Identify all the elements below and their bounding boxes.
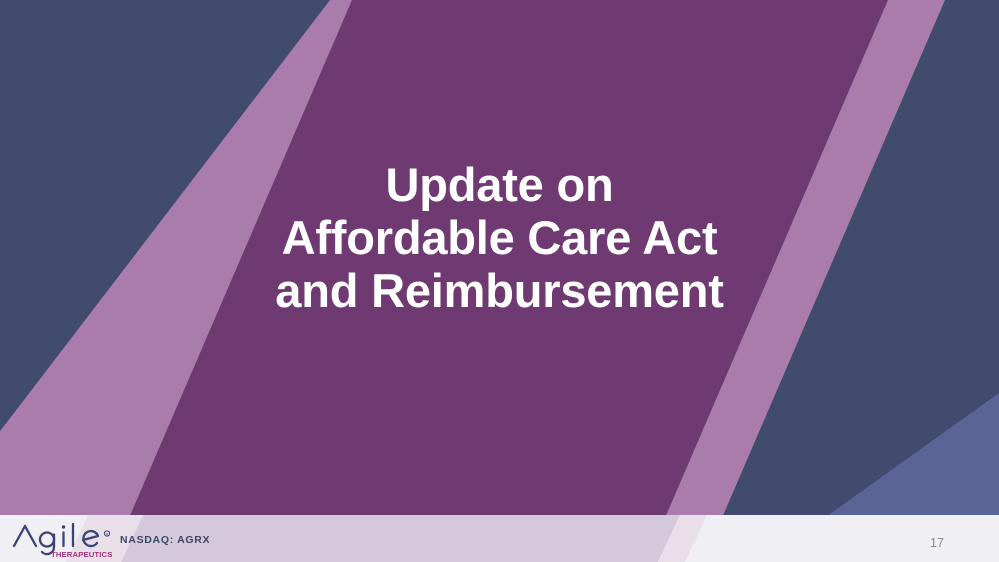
title-line-1: Update on	[0, 158, 999, 211]
logo-i-dot	[62, 525, 65, 528]
slide-title: Update on Affordable Care Act and Reimbu…	[0, 158, 999, 317]
agile-therapeutics-logo: R THERAPEUTICS	[12, 521, 116, 559]
page-number: 17	[930, 536, 980, 550]
logo-mark-icon: R THERAPEUTICS	[12, 521, 116, 559]
title-line-2: Affordable Care Act	[0, 211, 999, 264]
title-line-3: and Reimbursement	[0, 264, 999, 317]
nasdaq-ticker-label: NASDAQ: AGRX	[120, 534, 210, 546]
logo-tagline: THERAPEUTICS	[51, 550, 112, 559]
slide-canvas: Update on Affordable Care Act and Reimbu…	[0, 0, 999, 562]
